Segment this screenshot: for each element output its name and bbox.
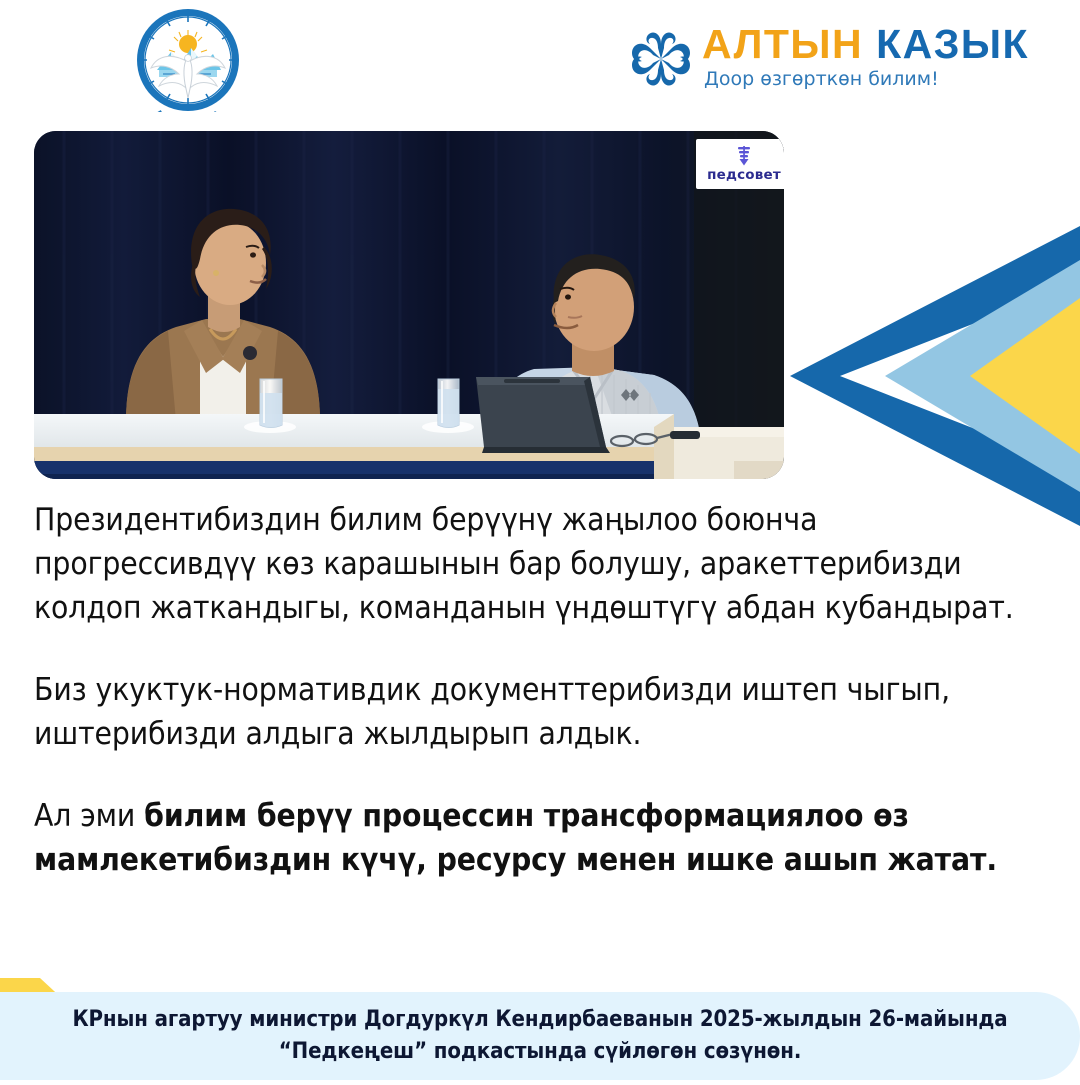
chevron-accent xyxy=(780,226,1080,526)
paragraph-2: Биз укуктук-нормативдик документтерибизд… xyxy=(34,668,1046,756)
brand-title: АЛТЫН КАЗЫК xyxy=(702,22,1029,66)
source-caption-line-1: КРнын агартуу министри Догдуркүл Кендирб… xyxy=(72,1004,1007,1036)
ornamental-knot-icon xyxy=(628,28,694,90)
quote-body: Президентибиздин билим берүүнү жаңылоо б… xyxy=(34,498,1046,882)
tablet-device xyxy=(476,377,610,453)
source-caption-line-2: “Педкеңеш” подкастында сүйлөгөн сөзүнөн. xyxy=(279,1036,802,1068)
remote-device xyxy=(670,431,700,439)
paragraph-3: Ал эми билим берүү процессин трансформац… xyxy=(34,794,1046,882)
emblem-svg: КЫРГЫЗ РЕСПУБЛИКАСЫ xyxy=(127,8,249,112)
kyrgyz-republic-emblem: КЫРГЫЗ РЕСПУБЛИКАСЫ xyxy=(127,8,249,112)
altyn-kazyk-logo: АЛТЫН КАЗЫК Доор өзгөрткөн билим! xyxy=(628,22,978,96)
paragraph-3-emphasis: билим берүү процессин трансформациялоо ө… xyxy=(34,798,997,878)
podcast-still[interactable]: педсовет xyxy=(34,131,784,479)
brand-tagline: Доор өзгөрткөн билим! xyxy=(704,68,939,90)
source-caption-banner: КРнын агартуу министри Догдуркүл Кендирб… xyxy=(0,992,1080,1080)
podcast-still-scene xyxy=(34,131,784,479)
pedsovet-watermark: педсовет xyxy=(696,139,784,189)
brand-title-part2: КАЗЫК xyxy=(876,21,1029,67)
pedsovet-label: педсовет xyxy=(707,167,781,183)
desk xyxy=(34,414,784,479)
header: КЫРГЫЗ РЕСПУБЛИКАСЫ xyxy=(0,0,1080,118)
paragraph-3-lead: Ал эми xyxy=(34,798,144,834)
brand-title-part1: АЛТЫН xyxy=(702,21,863,67)
pedsovet-arrow-icon xyxy=(735,146,753,166)
paragraph-1: Президентибиздин билим берүүнү жаңылоо б… xyxy=(34,498,1046,630)
